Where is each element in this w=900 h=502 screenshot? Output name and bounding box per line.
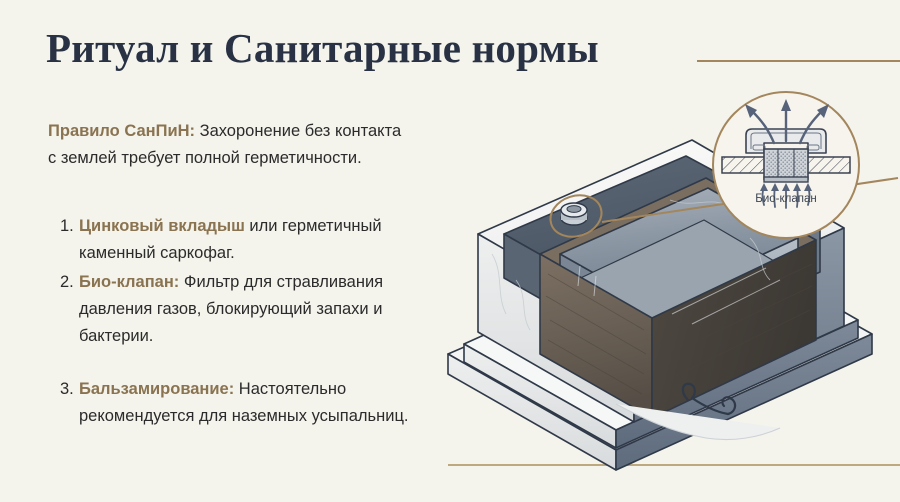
- list-item-body: Бальзамирование: Настоятельно рекомендуе…: [79, 376, 410, 430]
- list-item: 1. Цинковый вкладыш или герметичный каме…: [60, 213, 410, 267]
- slide-canvas: Ритуал и Санитарные нормы Правило СанПиН…: [0, 0, 900, 502]
- valve-filter-cartridge: [764, 149, 808, 182]
- list-item-number: 2.: [60, 269, 79, 296]
- lead-label: Правило СанПиН:: [48, 122, 195, 140]
- list-item: 3. Бальзамирование: Настоятельно рекомен…: [60, 376, 410, 430]
- list-item-body: Био-клапан: Фильтр для стравливания давл…: [79, 269, 410, 350]
- bio-valve-fitting: [561, 203, 587, 225]
- bio-valve-cross-section: [712, 91, 860, 239]
- list-item-body: Цинковый вкладыш или герметичный каменны…: [79, 213, 410, 267]
- list-item: 2. Био-клапан: Фильтр для стравливания д…: [60, 269, 410, 350]
- list-item-number: 1.: [60, 213, 79, 240]
- list-item-label: Био-клапан:: [79, 273, 179, 291]
- list-item-label: Бальзамирование:: [79, 380, 234, 398]
- requirements-list: 1. Цинковый вкладыш или герметичный каме…: [60, 213, 410, 432]
- gas-in-arrowheads: [760, 183, 812, 191]
- page-title: Ритуал и Санитарные нормы: [46, 24, 599, 72]
- lead-paragraph: Правило СанПиН: Захоронение без контакта…: [48, 118, 408, 172]
- title-rule-divider: [697, 60, 900, 62]
- bio-valve-callout: Био-клапан: [712, 91, 860, 239]
- list-item-number: 3.: [60, 376, 79, 403]
- list-item-label: Цинковый вкладыш: [79, 217, 245, 235]
- callout-label: Био-клапан: [712, 193, 860, 205]
